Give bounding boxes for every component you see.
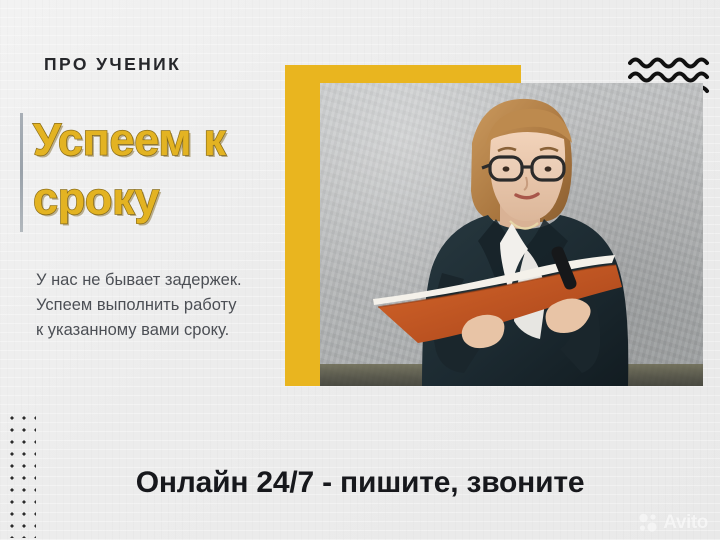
- headline-accent-bar: [20, 113, 23, 232]
- headline: Успеем к сроку: [33, 110, 273, 229]
- body-copy: У нас не бывает задержек. Успеем выполни…: [36, 268, 244, 343]
- avito-watermark-text: Avito: [663, 512, 708, 534]
- avito-logo-icon: [638, 513, 660, 533]
- brand-kicker: ПРО УЧЕНИК: [44, 54, 181, 75]
- woman-illustration: [320, 83, 703, 386]
- avito-watermark: Avito: [638, 512, 708, 534]
- advertisement-banner: ПРО УЧЕНИК Успеем к сроку У нас не бывае…: [0, 0, 720, 540]
- hero-photo: [320, 83, 703, 386]
- footer-tagline: Онлайн 24/7 - пишите, звоните: [0, 466, 720, 500]
